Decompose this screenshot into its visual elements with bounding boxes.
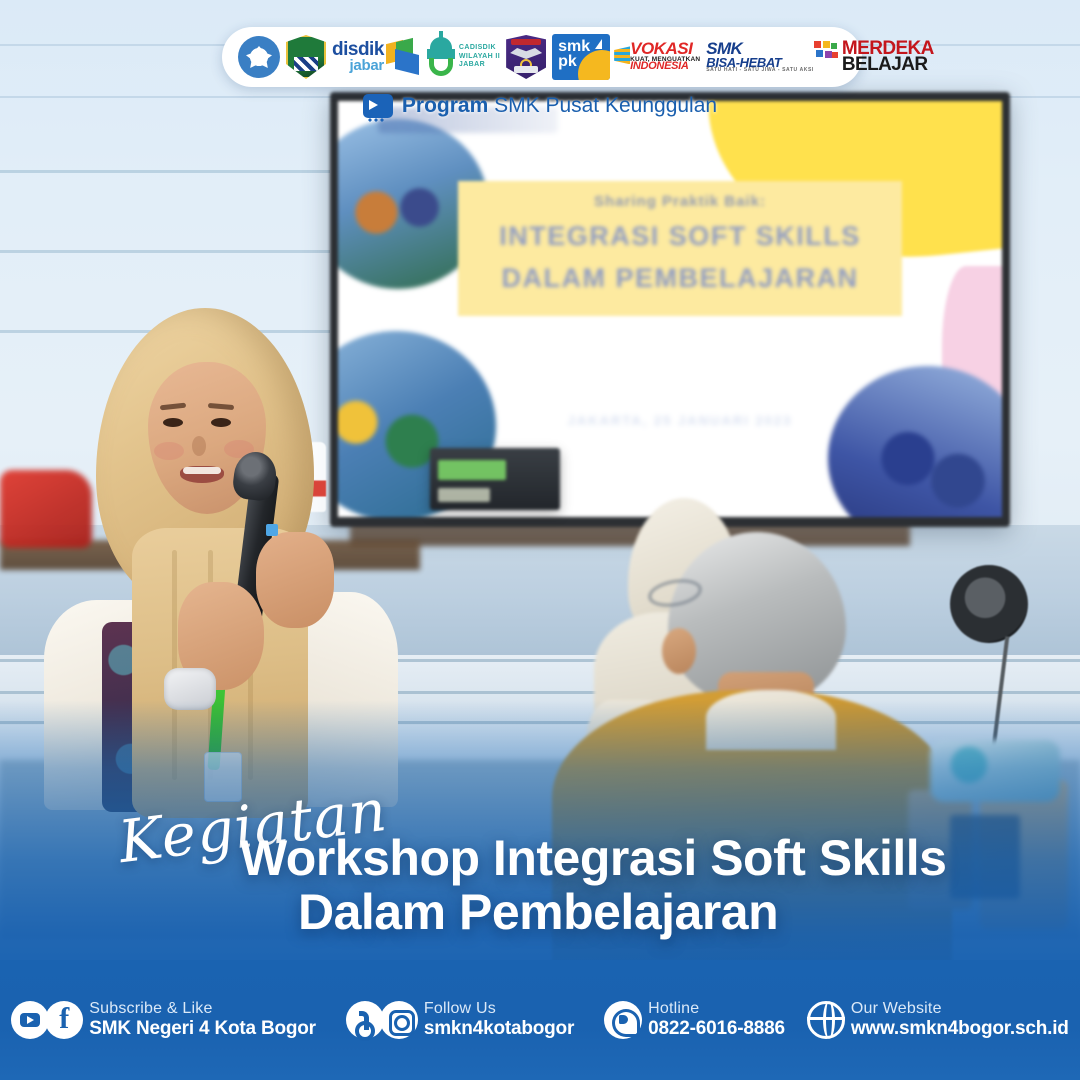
hotline-caption: Hotline bbox=[648, 1000, 785, 1018]
right-hand bbox=[256, 532, 334, 628]
footer-group-follow: Follow Us smkn4kotabogor bbox=[346, 1000, 574, 1040]
vokasi-line-1: VOKASI bbox=[630, 42, 700, 56]
whatsapp-icon[interactable] bbox=[604, 1001, 642, 1039]
website-caption: Our Website bbox=[851, 1000, 1069, 1018]
website-url: www.smkn4bogor.sch.id bbox=[851, 1018, 1069, 1040]
page-title: Workshop Integrasi Soft Skills Dalam Pem… bbox=[240, 832, 1040, 939]
vokasi-line-3: INDONESIA bbox=[630, 62, 700, 71]
speed-lines-icon bbox=[614, 46, 630, 64]
cadisdik-line-3: JABAR bbox=[459, 61, 500, 70]
slide-photo-bottom-right bbox=[828, 366, 1002, 517]
slide-header-logos bbox=[378, 107, 558, 133]
console-label-secondary bbox=[438, 488, 490, 502]
title-line-1: Workshop Integrasi Soft Skills bbox=[240, 830, 946, 886]
tiktok-icon[interactable] bbox=[346, 1001, 384, 1039]
merdeka-line-2: BELAJAR bbox=[842, 57, 934, 73]
nose bbox=[192, 436, 206, 456]
website-icons bbox=[807, 1001, 841, 1039]
wall-panel-line bbox=[0, 170, 330, 173]
facebook-icon[interactable] bbox=[45, 1001, 83, 1039]
smkpk-line-2: pk bbox=[558, 53, 577, 70]
youtube-icon[interactable] bbox=[11, 1001, 49, 1039]
footer-group-subscribe: Subscribe & Like SMK Negeri 4 Kota Bogor bbox=[11, 1000, 316, 1040]
follow-caption: Follow Us bbox=[424, 1000, 574, 1018]
slide-title-line1: INTEGRASI SOFT SKILLS bbox=[458, 221, 902, 252]
microphone-indicator bbox=[266, 524, 278, 536]
disdik-label-2: jabar bbox=[332, 59, 384, 72]
teeth bbox=[183, 467, 221, 474]
subscribe-handle: SMK Negeri 4 Kota Bogor bbox=[89, 1018, 316, 1040]
gedung-sate-icon bbox=[426, 37, 456, 77]
partner-logo-bar: disdik jabar CADISDIK WILAYAH II JABAR bbox=[222, 27, 862, 87]
subscribe-icons bbox=[11, 1001, 79, 1039]
smk-bisa-hebat-logo: SMK BISA-HEBAT SATU HATI - SATU JIWA - S… bbox=[706, 34, 814, 80]
console-label bbox=[438, 460, 506, 480]
color-dots-icon bbox=[814, 41, 838, 63]
globe-icon[interactable] bbox=[807, 1001, 845, 1039]
wall-speaker bbox=[950, 565, 1028, 643]
title-line-2: Dalam Pembelajaran bbox=[240, 886, 1040, 940]
follow-handle: smkn4kotabogor bbox=[424, 1018, 574, 1040]
merdeka-belajar-logo: MERDEKA BELAJAR bbox=[842, 34, 934, 80]
eye bbox=[163, 418, 183, 427]
slide-place-date: JAKARTA, 25 JANUARI 2023 bbox=[458, 413, 902, 428]
jawa-barat-emblem-icon bbox=[286, 34, 326, 80]
eye bbox=[211, 418, 231, 427]
slide-eyebrow: Sharing Praktik Baik: bbox=[458, 193, 902, 210]
smkbisa-line-3: SATU HATI - SATU JIWA - SATU AKSI bbox=[706, 68, 814, 73]
footer-group-hotline: Hotline 0822-6016-8886 bbox=[604, 1000, 785, 1040]
cadisdik-line-1: CADISDIK bbox=[459, 44, 500, 53]
follow-icons bbox=[346, 1001, 414, 1039]
poster-canvas: Sharing Praktik Baik: INTEGRASI SOFT SKI… bbox=[0, 0, 1080, 1080]
cadisdik-wilayah-2-logo: CADISDIK WILAYAH II JABAR bbox=[426, 34, 500, 80]
av-console bbox=[430, 448, 560, 510]
instagram-icon[interactable] bbox=[380, 1001, 418, 1039]
cadisdik-line-2: WILAYAH II bbox=[459, 53, 500, 62]
disdik-jabar-logo: disdik jabar bbox=[332, 34, 420, 80]
smk-pk-logo: smk pk bbox=[552, 34, 610, 80]
tut-wuri-handayani-icon bbox=[238, 34, 280, 80]
footer-group-website: Our Website www.smkn4bogor.sch.id bbox=[807, 1000, 1069, 1040]
subscribe-caption: Subscribe & Like bbox=[89, 1000, 316, 1018]
hotline-icons bbox=[604, 1001, 638, 1039]
wall-panel-line bbox=[0, 250, 330, 253]
smk-negeri-4-crest-icon bbox=[506, 34, 546, 80]
cheek bbox=[154, 442, 184, 460]
contact-footer: Subscribe & Like SMK Negeri 4 Kota Bogor… bbox=[0, 988, 1080, 1052]
vokasi-logo: VOKASI KUAT, MENGUATKAN INDONESIA bbox=[616, 34, 700, 80]
hotline-number: 0822-6016-8886 bbox=[648, 1018, 785, 1040]
slide-title-line2: DALAM PEMBELAJARAN bbox=[458, 263, 902, 294]
disdik-mark-icon bbox=[386, 40, 420, 74]
audience-man-ear bbox=[662, 628, 696, 674]
